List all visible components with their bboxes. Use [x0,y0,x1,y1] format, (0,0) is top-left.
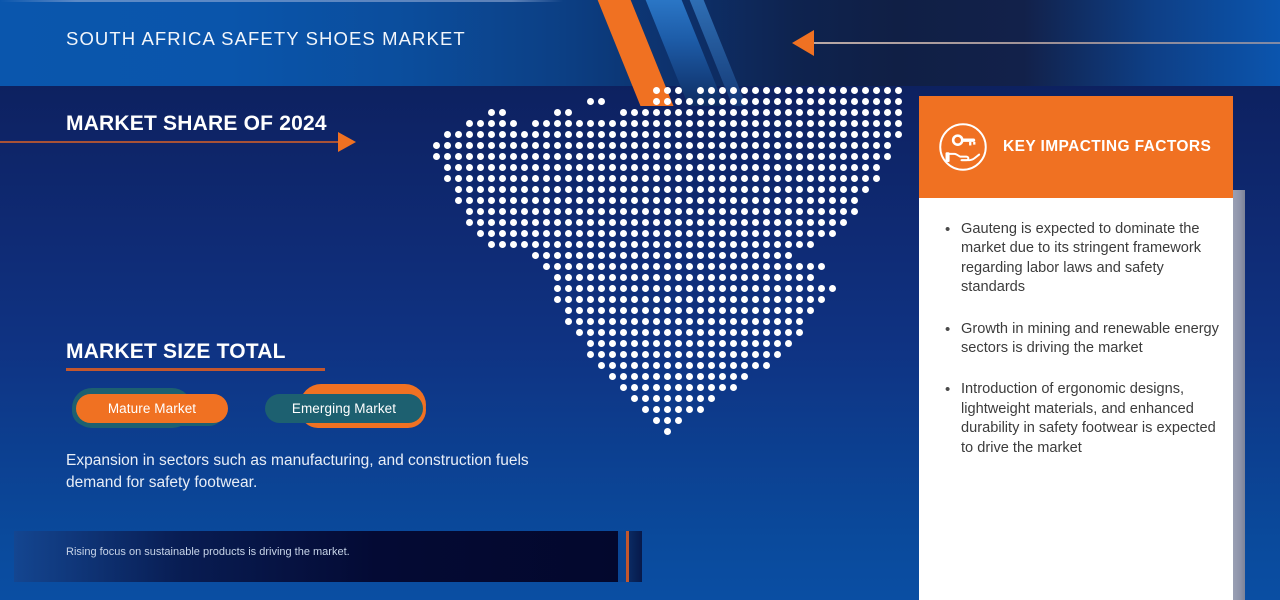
market-size-description: Expansion in sectors such as manufacturi… [66,450,546,494]
bullet-icon: • [945,380,961,458]
panel-title: KEY IMPACTING FACTORS [1003,138,1211,156]
hand-holding-key-icon [937,121,989,173]
top-right-arrow-icon [792,30,814,56]
top-right-rule [812,42,1280,44]
market-size-title: MARKET SIZE TOTAL [66,340,286,364]
panel-bullet-list: •Gauteng is expected to dominate the mar… [919,198,1233,600]
key-factor-item: •Introduction of ergonomic designs, ligh… [945,380,1221,458]
mature-market-pill[interactable]: Mature Market [76,394,228,423]
key-factor-text: Gauteng is expected to dominate the mark… [961,220,1221,298]
infographic-root: SOUTH AFRICA SAFETY SHOES MARKET MARKET … [0,0,1280,600]
bottom-banner-accent-line [626,531,629,582]
market-share-title: MARKET SHARE OF 2024 [66,112,327,136]
bottom-banner-gap [618,531,626,582]
bullet-icon: • [945,220,961,298]
panel-shadow [1233,190,1245,600]
market-share-rule [0,141,341,143]
bottom-banner-tail [629,531,642,582]
header-hairline [0,0,1280,2]
key-factor-item: •Growth in mining and renewable energy s… [945,320,1221,359]
bottom-banner-text: Rising focus on sustainable products is … [66,546,350,558]
dotted-world-map [432,86,902,506]
bullet-icon: • [945,320,961,359]
key-factor-item: •Gauteng is expected to dominate the mar… [945,220,1221,298]
emerging-market-pill[interactable]: Emerging Market [265,394,423,423]
page-title: SOUTH AFRICA SAFETY SHOES MARKET [66,28,466,50]
key-factor-text: Introduction of ergonomic designs, light… [961,380,1221,458]
market-size-rule [66,368,325,371]
panel-header: KEY IMPACTING FACTORS [919,96,1233,198]
key-factor-text: Growth in mining and renewable energy se… [961,320,1221,359]
key-impacting-factors-panel: KEY IMPACTING FACTORS •Gauteng is expect… [919,96,1233,600]
market-share-arrow-icon [338,132,356,152]
